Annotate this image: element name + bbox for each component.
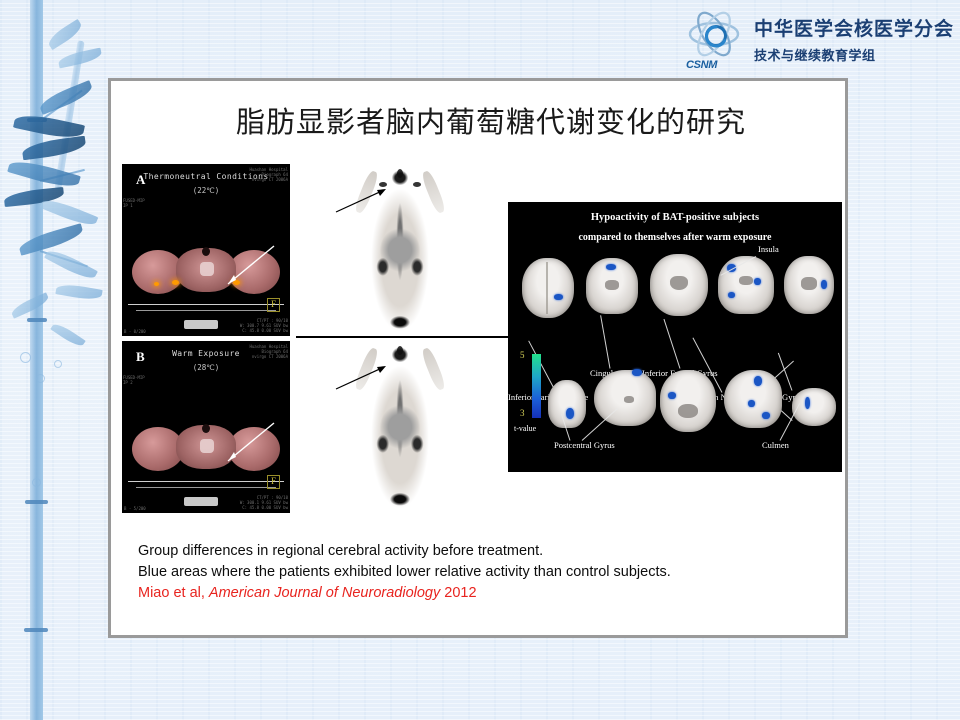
pet-mip-column — [300, 164, 500, 513]
brain-label-culmen: Culmen — [762, 440, 789, 450]
activation-blob — [668, 392, 676, 399]
society-name-block: 中华医学会核医学分会 技术与继续教育学组 — [754, 14, 954, 64]
brain-montage-title-line2: compared to themselves after warm exposu… — [508, 232, 842, 243]
leader-line-ifg — [663, 319, 680, 369]
brain-montage-title-line1: Hypoactivity of BAT-positive subjects — [508, 212, 842, 223]
brain-slice-cerebellum — [792, 388, 836, 426]
colorbar-title: t-value — [514, 424, 536, 433]
brain-spm-montage: Hypoactivity of BAT-positive subjects co… — [508, 202, 842, 472]
brain-slice-axial-3 — [784, 256, 834, 314]
activation-blob — [821, 280, 827, 289]
citation-year: 2012 — [440, 585, 476, 601]
colorbar-max-label: 5 — [520, 350, 525, 360]
brain-slice-sagittal-1 — [594, 370, 656, 426]
citation-journal: American Journal of Neuroradiology — [209, 585, 440, 601]
activation-blob — [762, 412, 770, 419]
panel-a-orientation-marker: F — [267, 298, 280, 312]
activation-blob — [606, 264, 616, 270]
panel-a-series-meta: FUSED-MIP IP 1 — [123, 198, 145, 208]
panel-a-slice-meta: B - 0/200 — [124, 329, 146, 334]
whole-body-pet-mip-thermoneutral — [300, 164, 500, 336]
leader-line-cingulate — [600, 315, 610, 368]
caption-line-1: Group differences in regional cerebral a… — [138, 541, 828, 562]
brain-label-insula: Insula — [758, 244, 779, 254]
panel-b-scanner-meta: Huashan Hospital Biograph 64 nvirgo CT 2… — [249, 344, 288, 359]
brain-slice-coronal-1 — [586, 258, 638, 314]
panel-b-subheading: (28℃) — [122, 363, 290, 372]
t-value-colorbar — [532, 354, 541, 418]
brain-slice-coronal-3 — [548, 380, 586, 428]
brain-slice-axial-4 — [660, 370, 716, 432]
brain-slice-sagittal-2 — [724, 370, 782, 428]
panel-a-subheading: (22℃) — [122, 186, 290, 195]
society-logo-block: CSNM 中华医学会核医学分会 技术与继续教育学组 — [684, 8, 954, 70]
csnm-wordmark: CSNM — [686, 59, 717, 71]
ct-pet-fusion-panel-b: B Warm Exposure (28℃) Huashan Hospital B… — [122, 341, 290, 513]
activation-blob — [805, 397, 810, 409]
panel-b-series-meta: FUSED-MIP IP 2 — [123, 375, 145, 385]
activation-blob — [748, 400, 755, 407]
csnm-atom-logo-icon: CSNM — [684, 8, 746, 70]
activation-blob — [632, 369, 642, 376]
activation-blob — [728, 292, 735, 298]
pet-b-bat-arrow — [334, 363, 392, 393]
panel-a-axial-section — [132, 246, 280, 298]
activation-blob — [566, 408, 574, 419]
page-title: 脂肪显影者脑内葡萄糖代谢变化的研究 — [171, 99, 811, 141]
society-name-primary: 中华医学会核医学分会 — [754, 14, 954, 41]
whole-body-pet-mip-warm — [300, 341, 500, 513]
caption-line-2: Blue areas where the patients exhibited … — [138, 562, 828, 583]
pet-a-bat-arrow — [334, 186, 392, 216]
leader-line-culmen — [780, 403, 801, 441]
panel-b-slice-meta: B - 5/200 — [124, 506, 146, 511]
panel-b-orientation-marker: F — [267, 475, 280, 489]
brain-slice-coronal-2 — [718, 256, 774, 314]
figure-divider-line — [296, 336, 538, 338]
citation-authors: Miao et al, — [138, 585, 209, 601]
slide-canvas: 脂肪显影者脑内葡萄糖代谢变化的研究 A Thermoneutral Condit… — [108, 78, 848, 638]
activation-blob — [754, 376, 762, 386]
brain-slice-axial-2 — [650, 254, 708, 316]
activation-blob — [754, 278, 761, 285]
ct-pet-fusion-panel-a: A Thermoneutral Conditions (22℃) Huashan… — [122, 164, 290, 336]
colorbar-min-label: 3 — [520, 408, 525, 418]
society-name-secondary: 技术与继续教育学组 — [754, 45, 876, 64]
activation-blob — [554, 294, 563, 300]
brain-slice-axial-1 — [522, 258, 574, 318]
brain-label-postcentral-gyrus: Postcentral Gyrus — [554, 440, 615, 450]
panel-a-scanner-meta: Huashan Hospital Biograph 64 nvirgo CT 2… — [249, 167, 288, 182]
panel-b-axial-section — [132, 423, 280, 475]
figure-caption: Group differences in regional cerebral a… — [138, 541, 828, 604]
citation-line: Miao et al, American Journal of Neurorad… — [138, 583, 828, 604]
bamboo-watercolor-illustration — [0, 0, 118, 720]
figure-area: A Thermoneutral Conditions (22℃) Huashan… — [118, 164, 844, 519]
